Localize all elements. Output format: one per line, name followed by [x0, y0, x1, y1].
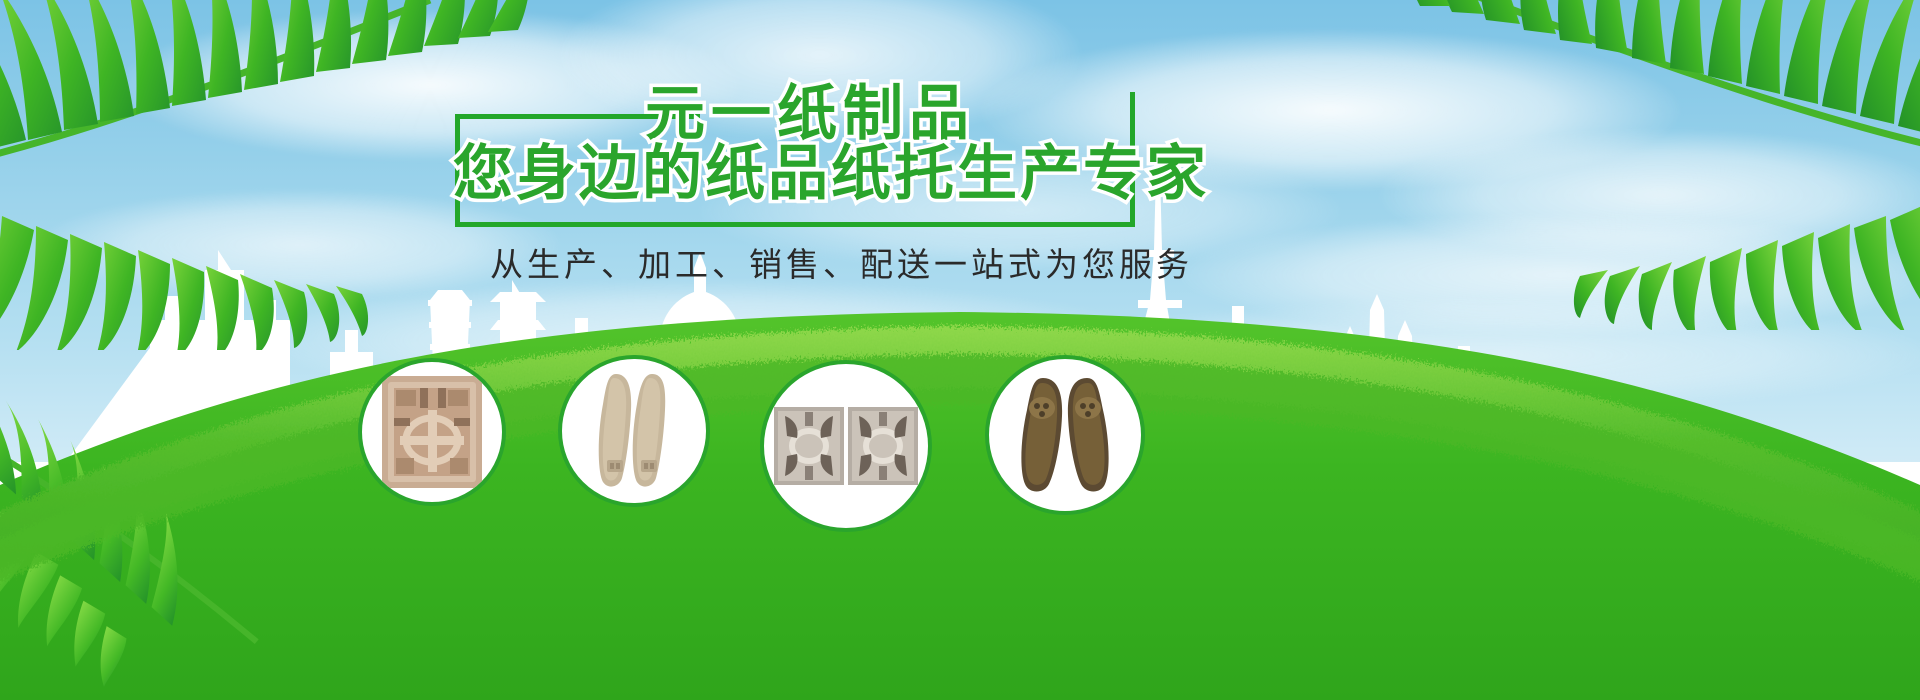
green-hill: [0, 280, 1920, 700]
brand-title-line1: 元一纸制品: [645, 84, 975, 144]
molded-pulp-tray-double-icon: [773, 406, 919, 486]
product-circle-paper-pulp-shoe-tree-pair[interactable]: [985, 355, 1145, 515]
promotional-banner: 元一纸制品 您身边的纸品纸托生产专家 从生产、加工、销售、配送一站式为您服务: [0, 0, 1920, 700]
frame-bottom-border: [455, 222, 1135, 227]
banner-subtitle: 从生产、加工、销售、配送一站式为您服务: [490, 238, 1193, 286]
brand-title-line2: 您身边的纸品纸托生产专家: [453, 144, 1209, 204]
product-circle-molded-pulp-tray-double[interactable]: [760, 360, 932, 532]
paper-pulp-shoe-insert-pair-icon: [582, 368, 686, 494]
headline-frame: 元一纸制品 您身边的纸品纸托生产专家: [455, 92, 1135, 227]
molded-pulp-tray-square-icon: [380, 374, 484, 490]
product-circle-paper-pulp-shoe-insert-pair[interactable]: [558, 355, 710, 507]
paper-pulp-shoe-tree-pair-icon: [1009, 374, 1121, 496]
product-circle-molded-pulp-tray-square[interactable]: [358, 358, 506, 506]
